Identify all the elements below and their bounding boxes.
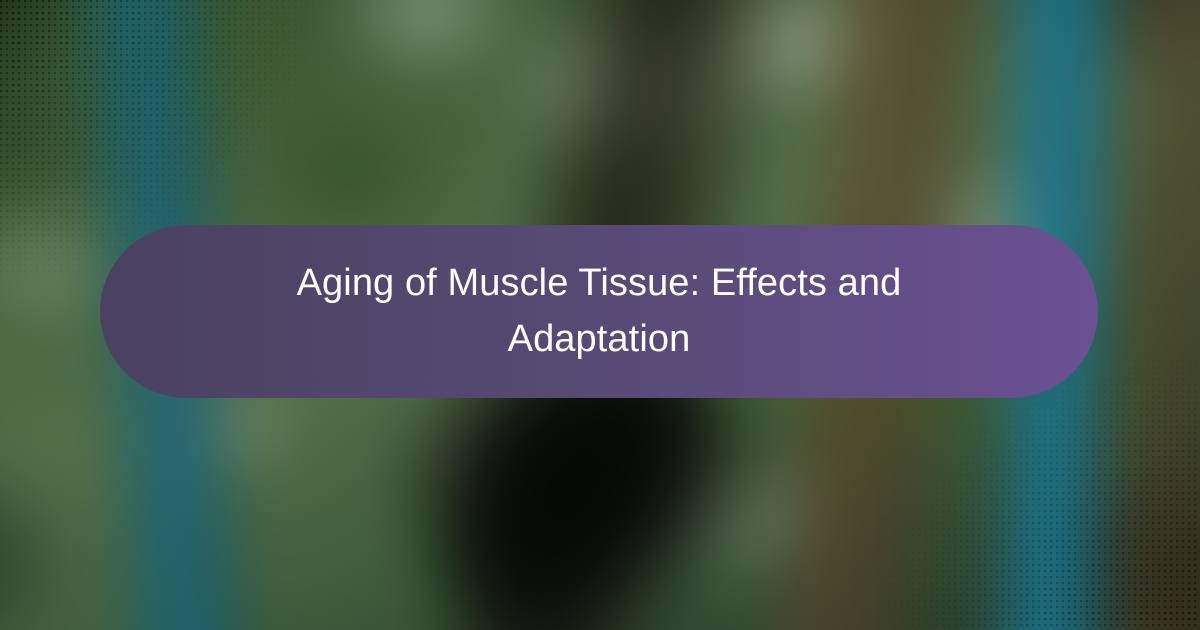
page-title: Aging of Muscle Tissue: Effects and Adap… bbox=[297, 256, 902, 366]
title-pill: Aging of Muscle Tissue: Effects and Adap… bbox=[100, 225, 1098, 398]
og-banner: Aging of Muscle Tissue: Effects and Adap… bbox=[0, 0, 1200, 630]
